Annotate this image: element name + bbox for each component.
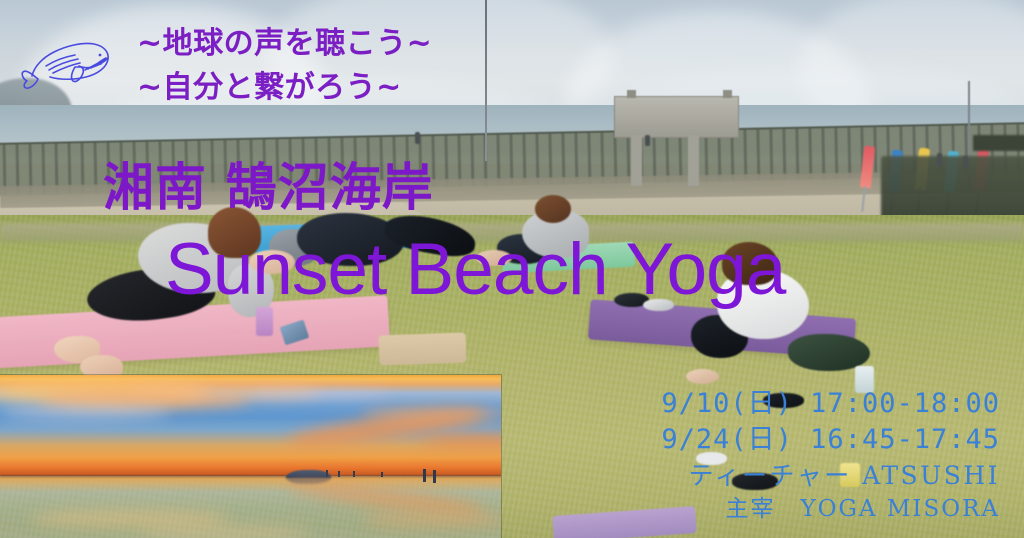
distant-person xyxy=(963,156,968,168)
inset-post xyxy=(381,472,383,477)
inset-post xyxy=(353,471,355,477)
inset-cloud xyxy=(0,404,170,420)
session-date-1: 9/10(日) 17:00-18:00 xyxy=(661,386,1000,422)
inset-post xyxy=(326,470,328,477)
beach-signboard xyxy=(614,96,739,138)
inset-post xyxy=(338,471,340,477)
whale-icon xyxy=(20,22,116,90)
inset-post xyxy=(423,469,426,482)
poster-root: ~地球の声を聴こう~ ~自分と繋がろう~ 湘南 鵠沼海岸 Sunset Beac… xyxy=(0,0,1024,538)
inset-post xyxy=(433,470,436,484)
awning xyxy=(973,135,1024,151)
distant-person xyxy=(937,153,942,166)
water-bottle xyxy=(256,307,273,337)
distant-person xyxy=(415,132,420,144)
antenna-pole xyxy=(485,0,487,161)
organizer-credit: 主宰 YOGA MISORA xyxy=(661,494,1000,525)
page-title: Sunset Beach Yoga xyxy=(165,233,785,306)
teacher-credit: ティーチャー ATSUSHI xyxy=(661,459,1000,493)
tagline-line-1: ~地球の声を聴こう~ xyxy=(137,18,432,62)
signboard-post xyxy=(631,135,642,186)
signboard-cap xyxy=(627,90,636,99)
signboard-post xyxy=(688,135,699,186)
signboard-cap xyxy=(723,90,732,99)
participant-figure xyxy=(686,369,719,384)
inset-cloud-reflection xyxy=(140,525,310,538)
location-heading: 湘南 鵠沼海岸 xyxy=(103,146,434,220)
sunset-inset-photo xyxy=(0,375,501,538)
distant-person xyxy=(645,135,650,146)
session-date-2: 9/24(日) 16:45-17:45 xyxy=(661,422,1000,458)
yoga-mat-tan xyxy=(378,332,466,365)
parked-structure xyxy=(881,156,1024,221)
tagline-line-2: ~自分と繋がろう~ xyxy=(137,62,402,106)
schedule-block: 9/10(日) 17:00-18:00 9/24(日) 16:45-17:45 … xyxy=(661,386,1000,525)
